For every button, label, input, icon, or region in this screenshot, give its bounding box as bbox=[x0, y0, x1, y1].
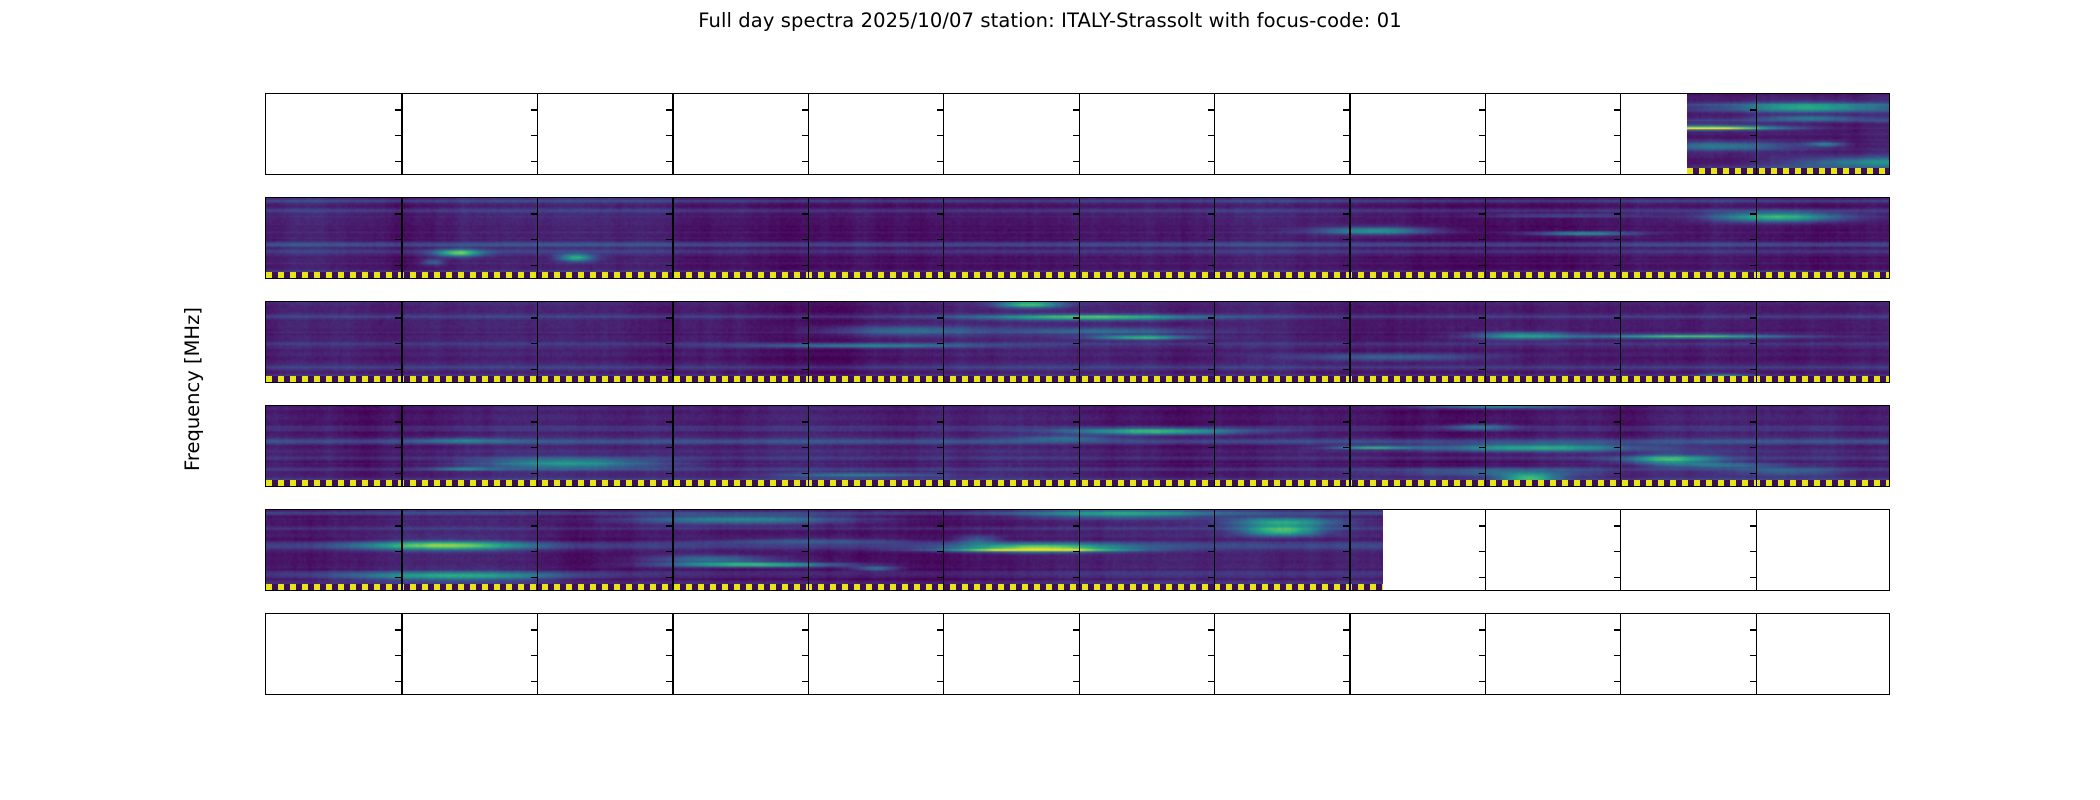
y-tick-mark-inner bbox=[1750, 161, 1756, 162]
y-tick-mark-inner bbox=[1073, 109, 1079, 110]
y-tick-mark-inner bbox=[531, 135, 537, 136]
subpanel-divider bbox=[943, 510, 944, 590]
y-tick-mark-inner bbox=[531, 161, 537, 162]
y-tick-mark-inner bbox=[1208, 655, 1214, 656]
y-tick-mark-inner bbox=[802, 161, 808, 162]
y-tick-mark-inner bbox=[1343, 161, 1349, 162]
spectrogram-row: 25030035000153045001530450015304520-23UT bbox=[265, 613, 1890, 695]
y-tick-mark-inner bbox=[1614, 681, 1620, 682]
y-tick-mark-inner bbox=[1208, 161, 1214, 162]
y-tick-mark-inner bbox=[1343, 265, 1349, 266]
y-tick-mark-inner bbox=[937, 317, 943, 318]
y-tick-mark-inner bbox=[937, 681, 943, 682]
spectrogram-grid: 25030035000-03UT25030035004-07UT25030035… bbox=[265, 93, 1890, 717]
y-tick-mark-inner bbox=[395, 525, 401, 526]
y-tick-mark bbox=[265, 473, 266, 474]
subpanel-divider bbox=[1079, 406, 1080, 486]
subpanel-divider bbox=[401, 302, 402, 382]
y-tick-mark-inner bbox=[666, 239, 672, 240]
y-tick-mark-inner bbox=[1343, 525, 1349, 526]
y-tick-mark-inner bbox=[1750, 655, 1756, 656]
y-tick-mark-inner bbox=[1614, 655, 1620, 656]
y-tick-mark-inner bbox=[666, 473, 672, 474]
y-tick-mark-inner bbox=[1479, 265, 1485, 266]
y-tick-mark-inner bbox=[531, 681, 537, 682]
y-tick-mark-inner bbox=[937, 265, 943, 266]
spectrogram-data bbox=[1687, 94, 1890, 174]
y-tick-mark-inner bbox=[802, 629, 808, 630]
y-tick-mark-inner bbox=[1750, 369, 1756, 370]
subpanel-divider bbox=[401, 198, 402, 278]
y-tick-mark-inner bbox=[937, 655, 943, 656]
y-tick-mark-inner bbox=[937, 629, 943, 630]
y-tick-mark-inner bbox=[1614, 265, 1620, 266]
y-tick-mark-inner bbox=[1750, 447, 1756, 448]
y-tick-mark-inner bbox=[1073, 317, 1079, 318]
y-tick-mark-inner bbox=[1208, 681, 1214, 682]
x-tick-mark bbox=[1079, 694, 1080, 695]
subpanel-divider bbox=[943, 614, 944, 694]
y-tick-mark-inner bbox=[1208, 629, 1214, 630]
y-tick-mark-inner bbox=[666, 213, 672, 214]
subpanel-divider bbox=[401, 406, 402, 486]
y-tick-mark-inner bbox=[666, 135, 672, 136]
subpanel-divider bbox=[1214, 302, 1215, 382]
y-tick-mark-inner bbox=[395, 161, 401, 162]
y-tick-mark-inner bbox=[531, 109, 537, 110]
y-tick-mark-inner bbox=[1208, 551, 1214, 552]
y-tick-mark-inner bbox=[1073, 265, 1079, 266]
y-tick-mark-inner bbox=[395, 343, 401, 344]
x-tick-mark bbox=[1214, 694, 1215, 695]
subpanel-divider bbox=[1756, 198, 1757, 278]
y-tick-mark-inner bbox=[531, 551, 537, 552]
y-tick-mark-inner bbox=[1479, 421, 1485, 422]
y-tick-mark-inner bbox=[1750, 239, 1756, 240]
y-tick-mark-inner bbox=[1073, 369, 1079, 370]
subpanel-divider bbox=[1485, 302, 1486, 382]
y-tick-mark-inner bbox=[531, 239, 537, 240]
subpanel-divider bbox=[672, 302, 673, 382]
y-tick-mark-inner bbox=[395, 577, 401, 578]
y-tick-mark bbox=[265, 525, 266, 526]
subpanel-divider bbox=[808, 94, 809, 174]
y-tick-mark-inner bbox=[395, 473, 401, 474]
subpanel-divider bbox=[1214, 510, 1215, 590]
subpanel-divider bbox=[537, 302, 538, 382]
y-tick-mark-inner bbox=[1208, 317, 1214, 318]
y-tick-mark-inner bbox=[531, 213, 537, 214]
y-tick-mark-inner bbox=[1208, 473, 1214, 474]
y-tick-mark-inner bbox=[666, 421, 672, 422]
y-tick-mark-inner bbox=[395, 239, 401, 240]
y-tick-mark-inner bbox=[1208, 343, 1214, 344]
subpanel-divider bbox=[1349, 614, 1350, 694]
subpanel-divider bbox=[537, 406, 538, 486]
y-tick-mark-inner bbox=[1614, 551, 1620, 552]
y-tick-mark-inner bbox=[531, 421, 537, 422]
subpanel-divider bbox=[808, 302, 809, 382]
y-tick-mark-inner bbox=[1343, 213, 1349, 214]
y-tick-mark-inner bbox=[1343, 135, 1349, 136]
y-tick-mark bbox=[265, 577, 266, 578]
y-tick-mark-inner bbox=[1750, 265, 1756, 266]
y-tick-mark-inner bbox=[937, 551, 943, 552]
y-tick-mark-inner bbox=[802, 447, 808, 448]
subpanel-divider bbox=[943, 198, 944, 278]
y-tick-mark-inner bbox=[1073, 343, 1079, 344]
subpanel-divider bbox=[808, 406, 809, 486]
y-tick-mark-inner bbox=[937, 577, 943, 578]
subpanel-divider bbox=[1485, 406, 1486, 486]
y-tick-mark-inner bbox=[802, 525, 808, 526]
subpanel-divider bbox=[1485, 510, 1486, 590]
y-tick-mark-inner bbox=[1479, 161, 1485, 162]
spectrogram-row: 25030035016-19UT bbox=[265, 509, 1890, 591]
y-tick-mark-inner bbox=[802, 239, 808, 240]
x-tick-mark bbox=[1620, 694, 1621, 695]
x-tick-mark bbox=[672, 694, 673, 695]
y-tick-mark-inner bbox=[1614, 447, 1620, 448]
y-tick-mark-inner bbox=[1750, 135, 1756, 136]
y-tick-mark-inner bbox=[1073, 629, 1079, 630]
subpanel-divider bbox=[401, 94, 402, 174]
x-tick-mark bbox=[1349, 694, 1350, 695]
y-tick-mark-inner bbox=[802, 655, 808, 656]
y-tick-mark-inner bbox=[1073, 551, 1079, 552]
subpanel-divider bbox=[1756, 614, 1757, 694]
y-tick-mark-inner bbox=[531, 369, 537, 370]
y-tick-mark-inner bbox=[395, 265, 401, 266]
y-tick-mark-inner bbox=[666, 655, 672, 656]
y-tick-mark-inner bbox=[1073, 525, 1079, 526]
y-tick-mark-inner bbox=[937, 447, 943, 448]
y-tick-mark bbox=[265, 265, 266, 266]
y-tick-mark bbox=[265, 239, 266, 240]
y-tick-mark-inner bbox=[666, 577, 672, 578]
subpanel-divider bbox=[1620, 94, 1621, 174]
x-tick-mark bbox=[1485, 694, 1486, 695]
y-tick-mark-inner bbox=[1343, 655, 1349, 656]
y-tick-mark-inner bbox=[666, 525, 672, 526]
y-tick-mark-inner bbox=[666, 109, 672, 110]
y-tick-mark-inner bbox=[531, 629, 537, 630]
y-tick-mark-inner bbox=[531, 447, 537, 448]
y-tick-mark-inner bbox=[1614, 135, 1620, 136]
y-tick-mark-inner bbox=[666, 317, 672, 318]
subpanel-divider bbox=[537, 510, 538, 590]
subpanel-divider bbox=[672, 510, 673, 590]
y-tick-mark-inner bbox=[1479, 239, 1485, 240]
subpanel-divider bbox=[1620, 302, 1621, 382]
y-tick-mark-inner bbox=[802, 577, 808, 578]
y-tick-mark-inner bbox=[802, 551, 808, 552]
y-tick-mark bbox=[265, 421, 266, 422]
y-tick-mark-inner bbox=[1343, 369, 1349, 370]
y-tick-mark-inner bbox=[1750, 629, 1756, 630]
x-tick-mark bbox=[537, 694, 538, 695]
subpanel-divider bbox=[672, 94, 673, 174]
subpanel-divider bbox=[1620, 406, 1621, 486]
y-tick-mark-inner bbox=[531, 525, 537, 526]
subpanel-divider bbox=[1756, 406, 1757, 486]
y-tick-mark-inner bbox=[937, 473, 943, 474]
y-tick-mark-inner bbox=[1343, 473, 1349, 474]
y-tick-mark-inner bbox=[1750, 681, 1756, 682]
y-tick-mark-inner bbox=[1750, 109, 1756, 110]
y-tick-mark-inner bbox=[1208, 447, 1214, 448]
subpanel-divider bbox=[1756, 510, 1757, 590]
subpanel-divider bbox=[943, 406, 944, 486]
y-tick-mark bbox=[265, 343, 266, 344]
y-tick-mark bbox=[265, 629, 266, 630]
y-tick-mark bbox=[265, 681, 266, 682]
subpanel-divider bbox=[401, 614, 402, 694]
y-tick-mark-inner bbox=[1479, 525, 1485, 526]
y-tick-mark-inner bbox=[1073, 473, 1079, 474]
y-tick-mark-inner bbox=[1750, 213, 1756, 214]
y-tick-mark-inner bbox=[531, 577, 537, 578]
y-tick-mark-inner bbox=[802, 135, 808, 136]
y-tick-mark bbox=[265, 109, 266, 110]
y-tick-mark-inner bbox=[1208, 135, 1214, 136]
y-tick-mark bbox=[265, 655, 266, 656]
y-tick-mark-inner bbox=[1479, 317, 1485, 318]
y-tick-mark-inner bbox=[531, 317, 537, 318]
spectrogram-canvas bbox=[1687, 94, 1890, 174]
y-tick-mark-inner bbox=[1208, 369, 1214, 370]
x-tick-mark bbox=[808, 694, 809, 695]
y-tick-mark-inner bbox=[666, 681, 672, 682]
y-tick-mark-inner bbox=[1479, 473, 1485, 474]
y-tick-mark-inner bbox=[1614, 161, 1620, 162]
y-tick-mark-inner bbox=[1614, 473, 1620, 474]
subpanel-divider bbox=[537, 198, 538, 278]
y-tick-mark-inner bbox=[1750, 473, 1756, 474]
y-tick-mark-inner bbox=[1479, 681, 1485, 682]
y-tick-mark bbox=[265, 447, 266, 448]
y-tick-mark-inner bbox=[395, 369, 401, 370]
y-tick-mark-inner bbox=[1479, 629, 1485, 630]
x-tick-mark bbox=[401, 694, 402, 695]
y-tick-mark-inner bbox=[1073, 161, 1079, 162]
subpanel-divider bbox=[1214, 94, 1215, 174]
y-tick-mark-inner bbox=[1614, 577, 1620, 578]
y-tick-mark-inner bbox=[531, 343, 537, 344]
subpanel-divider bbox=[1214, 614, 1215, 694]
y-tick-mark-inner bbox=[1614, 369, 1620, 370]
y-tick-mark-inner bbox=[1614, 525, 1620, 526]
y-tick-mark-inner bbox=[1479, 655, 1485, 656]
subpanel-divider bbox=[1079, 614, 1080, 694]
subpanel-divider bbox=[1485, 198, 1486, 278]
y-tick-mark-inner bbox=[802, 109, 808, 110]
subpanel-divider bbox=[672, 406, 673, 486]
y-tick-mark-inner bbox=[1479, 135, 1485, 136]
subpanel-divider bbox=[1214, 198, 1215, 278]
y-tick-mark-inner bbox=[1073, 213, 1079, 214]
y-tick-mark-inner bbox=[1479, 109, 1485, 110]
y-tick-mark-inner bbox=[395, 317, 401, 318]
subpanel-divider bbox=[808, 510, 809, 590]
y-tick-mark-inner bbox=[1073, 681, 1079, 682]
y-tick-mark-inner bbox=[666, 447, 672, 448]
y-tick-mark-inner bbox=[1208, 213, 1214, 214]
y-tick-mark-inner bbox=[1208, 577, 1214, 578]
y-tick-mark-inner bbox=[1208, 265, 1214, 266]
y-axis-title: Frequency [MHz] bbox=[181, 249, 207, 529]
spectrogram-row: 25030035004-07UT bbox=[265, 197, 1890, 279]
y-tick-mark-inner bbox=[1614, 317, 1620, 318]
y-tick-mark-inner bbox=[937, 213, 943, 214]
y-tick-mark-inner bbox=[531, 655, 537, 656]
y-tick-mark-inner bbox=[1479, 343, 1485, 344]
y-tick-mark-inner bbox=[395, 421, 401, 422]
subpanel-divider bbox=[808, 198, 809, 278]
y-tick-mark-inner bbox=[1208, 525, 1214, 526]
subpanel-divider bbox=[1079, 302, 1080, 382]
subpanel-divider bbox=[672, 198, 673, 278]
subpanel-divider bbox=[401, 510, 402, 590]
y-tick-mark-inner bbox=[531, 265, 537, 266]
y-tick-mark-inner bbox=[395, 109, 401, 110]
y-tick-mark-inner bbox=[937, 343, 943, 344]
subpanel-divider bbox=[943, 94, 944, 174]
data-availability-marker bbox=[1687, 168, 1890, 174]
subpanel-divider bbox=[537, 94, 538, 174]
subpanel-divider bbox=[1756, 94, 1757, 174]
y-tick-mark-inner bbox=[1073, 135, 1079, 136]
y-tick-mark-inner bbox=[1343, 577, 1349, 578]
y-tick-mark-inner bbox=[802, 369, 808, 370]
y-tick-mark bbox=[265, 135, 266, 136]
y-tick-mark-inner bbox=[1343, 109, 1349, 110]
subpanel-divider bbox=[1620, 510, 1621, 590]
y-tick-mark-inner bbox=[395, 447, 401, 448]
y-tick-mark-inner bbox=[1073, 239, 1079, 240]
subpanel-divider bbox=[943, 302, 944, 382]
y-tick-mark-inner bbox=[937, 161, 943, 162]
y-tick-mark-inner bbox=[937, 239, 943, 240]
figure-title: Full day spectra 2025/10/07 station: ITA… bbox=[0, 9, 2100, 32]
y-tick-mark-inner bbox=[1073, 421, 1079, 422]
y-tick-mark bbox=[265, 161, 266, 162]
y-tick-mark-inner bbox=[1750, 525, 1756, 526]
y-tick-mark-inner bbox=[395, 655, 401, 656]
subpanel-divider bbox=[1485, 94, 1486, 174]
y-tick-mark-inner bbox=[1479, 577, 1485, 578]
y-tick-mark-inner bbox=[395, 213, 401, 214]
y-tick-mark-inner bbox=[802, 473, 808, 474]
subpanel-divider bbox=[1485, 614, 1486, 694]
y-tick-mark-inner bbox=[395, 135, 401, 136]
y-tick-mark-inner bbox=[666, 161, 672, 162]
y-tick-mark-inner bbox=[395, 681, 401, 682]
y-tick-mark-inner bbox=[1614, 239, 1620, 240]
y-tick-mark-inner bbox=[802, 421, 808, 422]
subpanel-divider bbox=[1349, 510, 1350, 590]
subpanel-divider bbox=[672, 614, 673, 694]
y-tick-mark-inner bbox=[666, 369, 672, 370]
y-tick-mark-inner bbox=[937, 135, 943, 136]
subpanel-divider bbox=[1620, 614, 1621, 694]
spectrogram-row: 25030035008-11UT bbox=[265, 301, 1890, 383]
y-tick-mark-inner bbox=[1073, 577, 1079, 578]
y-tick-mark-inner bbox=[937, 369, 943, 370]
y-tick-mark-inner bbox=[1750, 421, 1756, 422]
spectrogram-row: 25030035000-03UT bbox=[265, 93, 1890, 175]
y-tick-mark-inner bbox=[1208, 421, 1214, 422]
subpanel-divider bbox=[537, 614, 538, 694]
y-tick-mark-inner bbox=[1614, 213, 1620, 214]
y-tick-mark-inner bbox=[1750, 343, 1756, 344]
y-tick-mark-inner bbox=[666, 551, 672, 552]
y-tick-mark-inner bbox=[666, 265, 672, 266]
y-tick-mark-inner bbox=[531, 473, 537, 474]
y-tick-mark-inner bbox=[1208, 239, 1214, 240]
y-tick-mark-inner bbox=[395, 629, 401, 630]
y-tick-mark-inner bbox=[1343, 447, 1349, 448]
y-tick-mark-inner bbox=[1343, 343, 1349, 344]
y-tick-mark-inner bbox=[1614, 629, 1620, 630]
y-tick-mark-inner bbox=[1343, 239, 1349, 240]
subpanel-divider bbox=[1349, 94, 1350, 174]
y-tick-mark-inner bbox=[1614, 109, 1620, 110]
y-tick-mark-inner bbox=[1343, 681, 1349, 682]
subpanel-divider bbox=[1214, 406, 1215, 486]
y-tick-mark-inner bbox=[802, 265, 808, 266]
y-tick-mark-inner bbox=[937, 421, 943, 422]
y-tick-mark-inner bbox=[802, 213, 808, 214]
y-tick-mark-inner bbox=[1343, 317, 1349, 318]
subpanel-divider bbox=[1620, 198, 1621, 278]
y-tick-mark-inner bbox=[1479, 213, 1485, 214]
y-tick-mark-inner bbox=[802, 317, 808, 318]
subpanel-divider bbox=[1349, 198, 1350, 278]
y-tick-mark-inner bbox=[1479, 369, 1485, 370]
y-tick-mark-inner bbox=[802, 681, 808, 682]
subpanel-divider bbox=[1349, 302, 1350, 382]
subpanel-divider bbox=[1756, 302, 1757, 382]
subpanel-divider bbox=[1079, 198, 1080, 278]
y-tick-mark-inner bbox=[1750, 577, 1756, 578]
subpanel-divider bbox=[1079, 94, 1080, 174]
y-tick-mark-inner bbox=[395, 551, 401, 552]
subpanel-divider bbox=[808, 614, 809, 694]
x-tick-mark bbox=[1756, 694, 1757, 695]
y-tick-mark-inner bbox=[1343, 421, 1349, 422]
y-tick-mark-inner bbox=[1479, 551, 1485, 552]
y-tick-mark-inner bbox=[1073, 447, 1079, 448]
y-tick-mark-inner bbox=[666, 629, 672, 630]
y-tick-mark-inner bbox=[937, 109, 943, 110]
x-tick-mark bbox=[266, 694, 267, 695]
y-tick-mark bbox=[265, 551, 266, 552]
y-tick-mark bbox=[265, 317, 266, 318]
subpanel-divider bbox=[1079, 510, 1080, 590]
spectrogram-row: 25030035012-15UT bbox=[265, 405, 1890, 487]
y-tick-mark-inner bbox=[1343, 629, 1349, 630]
subpanel-divider bbox=[1349, 406, 1350, 486]
y-tick-mark-inner bbox=[666, 343, 672, 344]
y-tick-mark-inner bbox=[802, 343, 808, 344]
y-tick-mark bbox=[265, 369, 266, 370]
y-tick-mark-inner bbox=[1208, 109, 1214, 110]
y-tick-mark-inner bbox=[937, 525, 943, 526]
y-tick-mark-inner bbox=[1073, 655, 1079, 656]
y-tick-mark-inner bbox=[1750, 317, 1756, 318]
y-tick-mark-inner bbox=[1750, 551, 1756, 552]
